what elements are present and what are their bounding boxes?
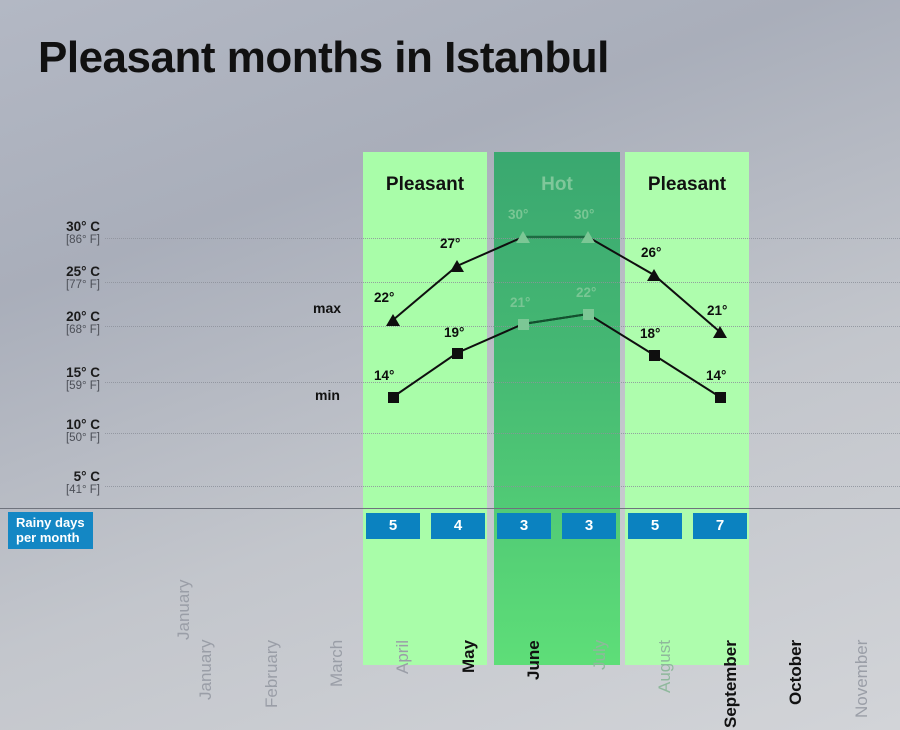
chart-canvas: Pleasant months in Istanbul Pleasant Hot… bbox=[0, 0, 900, 730]
month-label-january: January bbox=[197, 640, 214, 700]
month-axis: January February March April May June Ju… bbox=[0, 0, 900, 730]
month-label-november: November bbox=[853, 640, 900, 718]
